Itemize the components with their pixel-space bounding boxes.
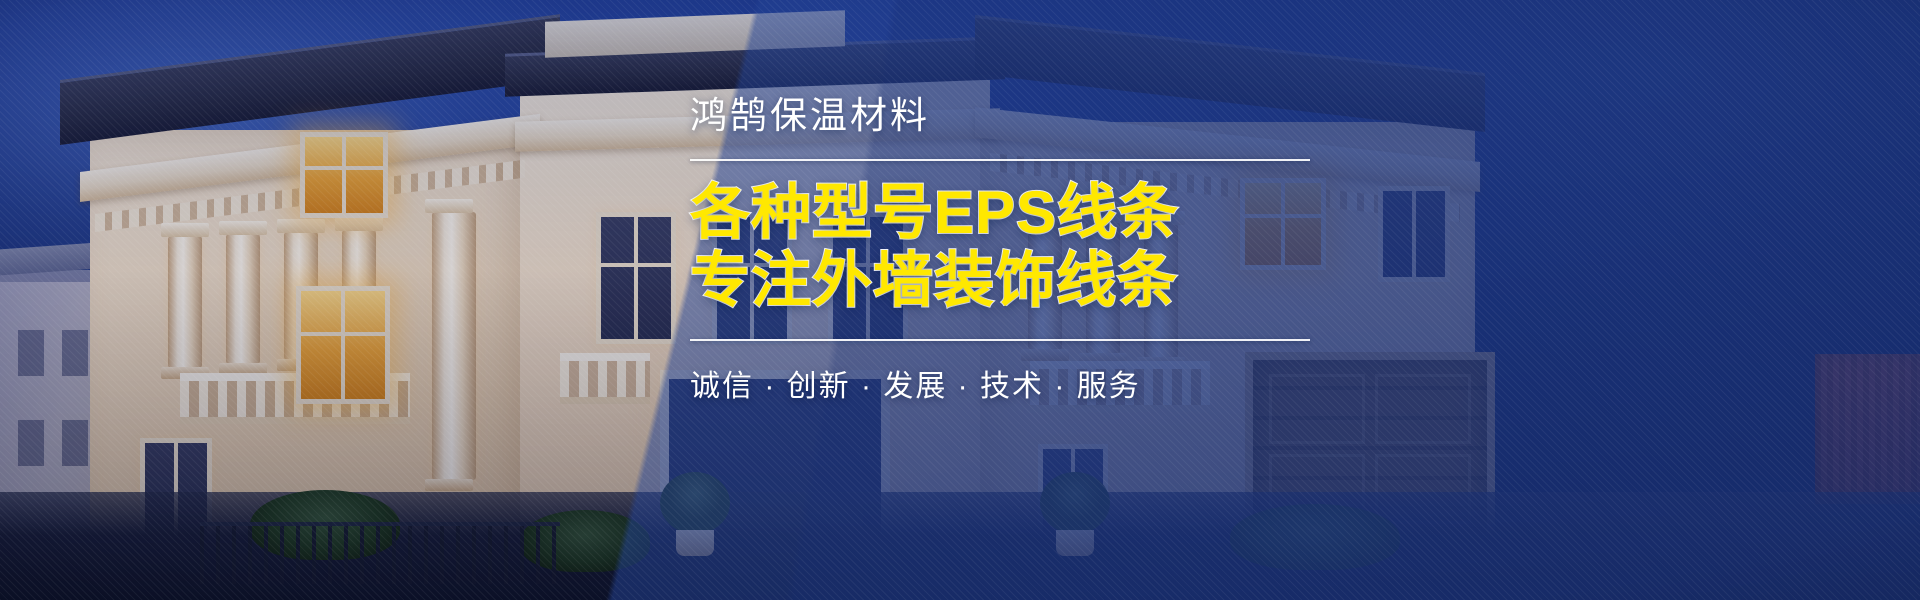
banner-copy-block: 鸿鹄保温材料 各种型号EPS线条 专注外墙装饰线条 诚信 · 创新 · 发展 ·… (690, 96, 1310, 405)
tagline: 诚信 · 创新 · 发展 · 技术 · 服务 (690, 361, 1310, 405)
headline-line-2: 专注外墙装饰线条 (690, 247, 1310, 315)
divider-bottom (690, 339, 1310, 341)
headline-line-1: 各种型号EPS线条 (690, 179, 1310, 247)
divider-top (690, 159, 1310, 161)
hero-banner: 鸿鹄保温材料 各种型号EPS线条 专注外墙装饰线条 诚信 · 创新 · 发展 ·… (0, 0, 1920, 600)
brand-name: 鸿鹄保温材料 (690, 96, 1310, 137)
